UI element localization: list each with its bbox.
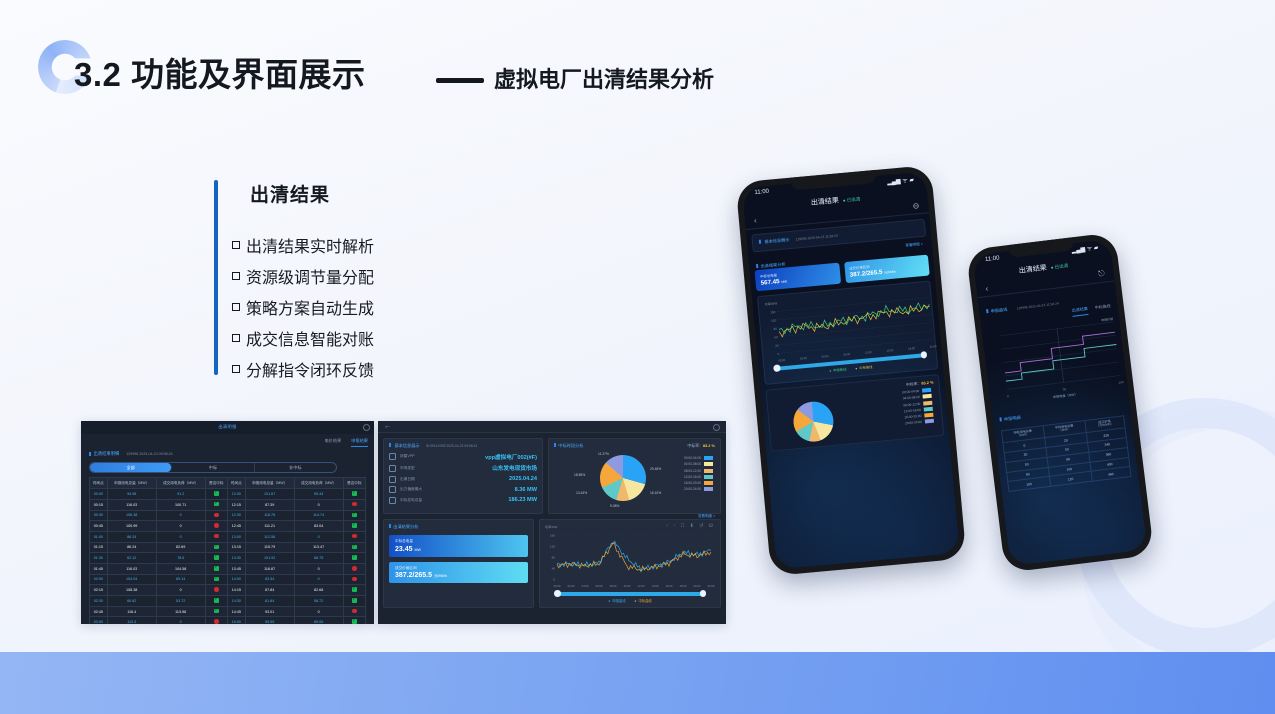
cell-win xyxy=(343,510,365,521)
bullet-square-icon xyxy=(232,272,240,280)
back-arrow-icon[interactable]: ← xyxy=(384,423,391,430)
cell-win xyxy=(205,606,227,617)
legend-label: 00:00-04:00 xyxy=(684,456,701,460)
cell-time: 14:45 xyxy=(227,606,245,617)
status-ok-icon xyxy=(352,619,357,624)
cell-time: 01:00 xyxy=(90,531,108,542)
segment-all[interactable]: 全部 xyxy=(90,463,172,472)
col-time-l: 时间点 xyxy=(90,478,108,489)
window-title: 出清明细 xyxy=(218,424,236,430)
legend-swatch xyxy=(704,475,713,479)
cell-cleared: 58.72 xyxy=(294,596,343,607)
svg-text:08:00: 08:00 xyxy=(610,584,617,588)
cell-cleared: 0 xyxy=(156,521,205,532)
svg-text:21:00: 21:00 xyxy=(930,344,938,349)
legend-swatch xyxy=(925,419,934,424)
kpi-value: 23.45 MW xyxy=(395,546,522,553)
legend-label: 12:00-16:00 xyxy=(684,475,701,479)
table-row[interactable]: 02:00104.0489.1414:0083.540 xyxy=(90,574,366,585)
pie-legend: 00:00-04:0004:00-08:0008:00-12:0012:00-1… xyxy=(902,388,934,428)
status-time: 11:00 xyxy=(985,255,1000,265)
cell-time: 00:30 xyxy=(90,510,108,521)
cell-cleared: 0 xyxy=(294,574,343,585)
win-rate-value: 83.2 % xyxy=(703,443,715,448)
win-rate: 中标率：83.2 % xyxy=(687,443,715,449)
phone-mockup-front: 11:00 ▂▄▆ ᯤ ▰ 出清结果● 已出清 ‹ ⊖ 基本信息展示 12999… xyxy=(736,165,967,576)
cell-cleared: 89.14 xyxy=(156,574,205,585)
svg-text:120: 120 xyxy=(771,318,777,322)
back-chevron-icon[interactable]: ‹ xyxy=(985,283,989,292)
kpi-unit: MW xyxy=(414,548,420,552)
table-row[interactable]: 00:15116.03100.7112:1587.390 xyxy=(90,499,366,510)
svg-text:14:00: 14:00 xyxy=(652,584,659,588)
status-fail-icon xyxy=(214,513,219,518)
svg-text:0: 0 xyxy=(1007,394,1009,398)
cell-time: 02:45 xyxy=(90,606,108,617)
kpi-title: 中标总电量 xyxy=(395,539,522,544)
segment-won[interactable]: 中标 xyxy=(172,463,254,472)
panel-heading: 申报曲线 xyxy=(986,307,1008,315)
table-row[interactable]: 02:45116.4113.9814:4593.010 xyxy=(90,606,366,617)
legend-item[interactable]: 00:00-04:00 xyxy=(684,456,713,460)
tab-bar: 电价结果 申报结果 xyxy=(324,438,368,447)
status-ok-icon xyxy=(214,491,219,496)
col-win-r: 是否中标 xyxy=(343,478,365,489)
cell-declared: 60.62 xyxy=(107,596,156,607)
status-ok-icon xyxy=(214,555,219,560)
legend-item[interactable]: 08:00-12:00 xyxy=(684,469,713,473)
svg-text:80: 80 xyxy=(552,555,556,559)
info-row: 出力偏差最大8.36 MW xyxy=(389,486,537,493)
panel-heading: 基本信息展示 ID:9914:0595 2025-04-23 09:58:24 xyxy=(389,443,537,449)
chart-range-slider[interactable] xyxy=(557,592,703,596)
phone-pie-panel: 中标率：83.2 % 00:00-04:0004:00-08:0008:00-1… xyxy=(765,374,944,452)
cell-cleared: 0 xyxy=(294,606,343,617)
info-label: 所属VPP xyxy=(400,454,448,459)
cell-declared: 94.98 xyxy=(107,489,156,500)
table-header-row: 时间点 申报用电总量（MW） 成交用电负荷（MW） 是否中标 时间点 申报用电总… xyxy=(90,478,366,489)
svg-text:02:00: 02:00 xyxy=(568,584,575,588)
chart-toolbar-icons[interactable]: ▫ ▫ ⎍ ⬇ ↺ ⛁ xyxy=(666,523,715,529)
cell-win xyxy=(205,531,227,542)
cell-cleared: 82.69 xyxy=(156,542,205,553)
status-fail-icon xyxy=(214,619,219,624)
cell-declared: 93.01 xyxy=(245,606,294,617)
col-win-l: 是否中标 xyxy=(205,478,227,489)
panel-heading: 出清结果分析 xyxy=(389,524,528,530)
legend-label: 16:00-20:00 xyxy=(904,414,921,420)
svg-text:06:00: 06:00 xyxy=(596,584,603,588)
svg-text:15:00: 15:00 xyxy=(886,348,894,353)
table-row[interactable]: 00:0094.9891.212:00101.6795.44 xyxy=(90,489,366,500)
cell-cleared: 113.98 xyxy=(156,606,205,617)
svg-text:150: 150 xyxy=(770,310,776,314)
feature-item-label: 成交信息智能对账 xyxy=(246,326,374,350)
cell-declared: 104.04 xyxy=(107,574,156,585)
cell-declared: 113.3 xyxy=(107,617,156,624)
cell-time: 13:45 xyxy=(227,563,245,574)
cell-time: 02:00 xyxy=(90,574,108,585)
cell-cleared: 82.68 xyxy=(294,585,343,596)
legend-item[interactable]: 20:00-24:00 xyxy=(684,487,713,491)
pie-label-4: 18.55% xyxy=(574,473,585,477)
status-fail-icon xyxy=(352,566,357,571)
status-fail-icon xyxy=(352,577,357,582)
status-fail-icon xyxy=(214,587,219,592)
cell-win xyxy=(343,606,365,617)
svg-text:12:00: 12:00 xyxy=(865,350,873,355)
svg-text:100: 100 xyxy=(1118,380,1124,385)
cell-cleared: 0 xyxy=(294,563,343,574)
cell-win xyxy=(205,596,227,607)
pie-label-2: 9.08% xyxy=(610,504,619,508)
tab-declare-result[interactable]: 申报结果 xyxy=(351,438,368,447)
info-row: 中标发电总量186.23 MW xyxy=(389,497,537,504)
legend-item[interactable]: 04:00-08:00 xyxy=(684,462,713,466)
cell-time: 13:15 xyxy=(227,542,245,553)
feature-heading: 出清结果 xyxy=(250,180,374,207)
bottom-gradient-bar xyxy=(0,652,1275,714)
cell-declared: 116.03 xyxy=(107,563,156,574)
cell-win xyxy=(205,542,227,553)
cell-declared: 116.4 xyxy=(107,606,156,617)
legend-item[interactable]: 16:00-20:00 xyxy=(684,481,713,485)
list-item: 出清结果实时解析 xyxy=(232,233,374,257)
cell-cleared: 0 xyxy=(156,510,205,521)
cell-win xyxy=(205,510,227,521)
legend-label: 04:00-08:00 xyxy=(684,462,701,466)
kpi-unit: 元/MWh xyxy=(884,270,896,275)
legend-label: 08:00-12:00 xyxy=(903,401,920,407)
page-subtitle: 虚拟电厂出清结果分析 xyxy=(494,62,714,94)
tab-cleared-curve[interactable]: 中标曲线 xyxy=(1094,303,1111,313)
bullet-square-icon xyxy=(232,334,240,342)
panel-heading: 申报明细 xyxy=(999,414,1021,422)
clearing-result-panel: 出清结果分析 中标总电量 23.45 MW 成交价格区间 387.2/265.5… xyxy=(383,519,534,608)
pie-legend: 00:00-04:0004:00-08:0008:00-12:0012:00-1… xyxy=(684,456,713,494)
cell-win xyxy=(205,553,227,564)
legend-label: 08:00-12:00 xyxy=(684,469,701,473)
cell-cleared: 78.6 xyxy=(156,553,205,564)
table-row[interactable]: 01:1586.2482.6913:15115.79113.47 xyxy=(90,542,366,553)
cell-declared: 86.24 xyxy=(107,531,156,542)
cell-win xyxy=(205,617,227,624)
cell-declared: 116.03 xyxy=(107,499,156,510)
cell-time: 15:00 xyxy=(227,617,245,624)
cell-time: 00:15 xyxy=(90,499,108,510)
cell-win xyxy=(343,553,365,564)
panel-heading: 基本信息展示 129996 2025-04-23 11:58:24 xyxy=(759,225,919,245)
cell-cleared: 113.47 xyxy=(294,542,343,553)
cell-win xyxy=(343,585,365,596)
info-value: 8.36 MW xyxy=(515,487,537,493)
cell-time: 01:45 xyxy=(90,563,108,574)
list-item: 策略方案自动生成 xyxy=(232,295,374,319)
pie-chart: 29.48% 16.10% 9.08% 13.43% 18.55% 11.27%… xyxy=(554,451,715,509)
cell-time: 14:00 xyxy=(227,574,245,585)
legend-swatch xyxy=(923,400,932,405)
close-icon[interactable] xyxy=(363,424,370,431)
svg-text:16:00: 16:00 xyxy=(666,584,673,588)
status-ok-icon xyxy=(352,545,357,550)
cell-cleared: 100.71 xyxy=(156,499,205,510)
cell-cleared: 86.75 xyxy=(294,553,343,564)
cell-time: 00:45 xyxy=(90,521,108,532)
cell-time: 02:30 xyxy=(90,596,108,607)
status-time: 11:00 xyxy=(754,189,769,198)
cell-cleared: 53.72 xyxy=(156,596,205,607)
svg-text:10:00: 10:00 xyxy=(624,584,631,588)
col-declared-l: 申报用电总量（MW） xyxy=(107,478,156,489)
status-fail-icon xyxy=(352,502,357,507)
table-row[interactable]: 01:3062.1278.613:30101.9286.75 xyxy=(90,553,366,564)
cell-cleared: 0 xyxy=(294,531,343,542)
feature-block: 出清结果 出清结果实时解析 资源级调节量分配 策略方案自动生成 成交信息智能对账… xyxy=(214,180,374,388)
phone-mockup-back: 11:00 ▂▄▆ ᯤ ▰ 出清结果● 已出清 ‹ ⎋ 申报曲线 129996 … xyxy=(966,232,1154,573)
svg-text:06:00: 06:00 xyxy=(821,354,829,359)
legend-cleared[interactable]: 中标曲线 xyxy=(635,598,652,603)
status-badge: ● 已出清 xyxy=(843,196,861,203)
tab-price-result[interactable]: 电价结果 xyxy=(324,438,341,447)
screenshot-clearing-detail-table: 出清明细 电价结果 申报结果 出清结果明细 129996 2025-04-23 … xyxy=(81,421,374,624)
list-item: 资源级调节量分配 xyxy=(232,264,374,288)
breadcrumb-title: 出清结果明细 xyxy=(89,451,119,457)
title-divider-dash xyxy=(436,78,484,83)
step-chart-svg: 050100申报电量（MW）申报价格 xyxy=(984,313,1128,407)
legend-label: 04:00-08:00 xyxy=(903,395,920,401)
feature-item-label: 出清结果实时解析 xyxy=(246,233,374,257)
cell-cleared: 0 xyxy=(156,531,205,542)
cell-declared: 100.99 xyxy=(107,521,156,532)
segmented-filter: 全部 中标 非中标 xyxy=(89,462,337,473)
cell-cleared: 95.44 xyxy=(294,489,343,500)
svg-text:0: 0 xyxy=(777,352,779,356)
plant-icon xyxy=(389,453,396,460)
table-row[interactable]: 00:30106.38012:30118.78114.74 xyxy=(90,510,366,521)
table-row[interactable]: 00:45100.99012:45111.2183.04 xyxy=(90,521,366,532)
cell-time: 01:30 xyxy=(90,553,108,564)
cell-win xyxy=(343,521,365,532)
back-chevron-icon[interactable]: ‹ xyxy=(754,216,757,225)
cell-win xyxy=(343,499,365,510)
table-row[interactable]: 02:15108.38014:1587.8482.68 xyxy=(90,585,366,596)
svg-text:120: 120 xyxy=(550,544,555,548)
kpi-value: 387.2/265.5 元/MWh xyxy=(395,572,522,579)
svg-text:申报价格: 申报价格 xyxy=(1101,315,1114,321)
legend-swatch xyxy=(704,456,713,460)
cell-win xyxy=(343,574,365,585)
status-fail-icon xyxy=(352,609,357,614)
legend-declared[interactable]: 申报曲线 xyxy=(608,598,625,603)
info-label: 出清日期 xyxy=(400,477,448,482)
kpi-total-energy: 中标总电量 23.45 MW xyxy=(389,535,528,557)
feature-accent-rule xyxy=(214,180,218,375)
cell-declared: 83.54 xyxy=(245,574,294,585)
feature-item-label: 策略方案自动生成 xyxy=(246,295,374,319)
legend-label: 20:00-24:00 xyxy=(684,487,701,491)
breadcrumb: 出清结果明细 129996 2025-04-23 09:58:24 xyxy=(89,451,366,457)
legend-declared[interactable]: 申报曲线 xyxy=(829,366,847,373)
legend-cleared[interactable]: 中标曲线 xyxy=(855,364,873,371)
cell-declared: 112.58 xyxy=(245,531,294,542)
col-cleared-r: 成交用电负荷（MW） xyxy=(294,478,343,489)
cell-declared: 87.39 xyxy=(245,499,294,510)
table-body: 00:0094.9891.212:00101.6795.4400:15116.0… xyxy=(90,489,366,624)
panel-subtitle: ID:9914:0595 2025-04-23 09:58:24 xyxy=(426,444,477,448)
status-ok-icon xyxy=(352,555,357,560)
cell-win xyxy=(205,521,227,532)
feature-item-label: 资源级调节量分配 xyxy=(246,264,374,288)
svg-text:04:00: 04:00 xyxy=(582,584,589,588)
table-row[interactable]: 01:45116.03104.5813:45116.870 xyxy=(90,563,366,574)
cell-time: 13:00 xyxy=(227,531,245,542)
legend-swatch xyxy=(924,413,933,418)
list-item: 分解指令闭环反馈 xyxy=(232,357,374,381)
phone-screen: 11:00 ▂▄▆ ᯤ ▰ 出清结果● 已出清 ‹ ⊖ 基本信息展示 12999… xyxy=(742,171,960,569)
line-chart-svg: 0408012016000:0002:0004:0006:0008:0010:0… xyxy=(545,529,715,589)
cell-time: 12:15 xyxy=(227,499,245,510)
cell-declared: 86.24 xyxy=(107,542,156,553)
cell-cleared: 0 xyxy=(156,585,205,596)
kpi-unit: 元/MWh xyxy=(434,574,447,578)
legend-item[interactable]: 12:00-16:00 xyxy=(684,475,713,479)
cell-cleared: 89.06 xyxy=(294,617,343,624)
window-titlebar: 出清明细 xyxy=(81,421,374,434)
svg-text:00:00: 00:00 xyxy=(554,584,561,588)
cell-time: 00:00 xyxy=(90,489,108,500)
info-row: 所属VPPvpp虚拟电厂002(#F) xyxy=(389,453,537,461)
info-value: 2025.04.24 xyxy=(509,476,537,482)
clearing-detail-table: 时间点 申报用电总量（MW） 成交用电负荷（MW） 是否中标 时间点 申报用电总… xyxy=(89,477,366,624)
cell-declared: 95.55 xyxy=(245,617,294,624)
status-ok-icon xyxy=(352,491,357,496)
status-ok-icon xyxy=(352,587,357,592)
cell-win xyxy=(205,574,227,585)
view-detail-link[interactable]: 查看明细 > xyxy=(698,514,715,519)
legend-item[interactable]: 20:00-24:00 xyxy=(905,419,934,426)
table-row[interactable]: 03:00113.3015:0095.5589.06 xyxy=(90,617,366,624)
feature-list: 出清结果实时解析 资源级调节量分配 策略方案自动生成 成交信息智能对账 分解指令… xyxy=(232,233,374,381)
cell-declared: 101.92 xyxy=(245,553,294,564)
panel-subtitle: 129996 2025-04-23 11:58:24 xyxy=(795,234,837,242)
cell-cleared: 0 xyxy=(294,499,343,510)
legend-label: 12:00-16:00 xyxy=(904,408,921,414)
tab-clearing-result[interactable]: 出清结果 xyxy=(1072,306,1089,316)
legend-swatch xyxy=(704,462,713,466)
minimize-icon[interactable] xyxy=(713,424,720,431)
cell-cleared: 114.74 xyxy=(294,510,343,521)
cell-declared: 87.84 xyxy=(245,585,294,596)
legend-swatch xyxy=(704,487,713,491)
cell-declared: 62.12 xyxy=(107,553,156,564)
cell-declared: 108.38 xyxy=(107,585,156,596)
svg-text:60: 60 xyxy=(774,335,778,339)
col-declared-r: 申报用电总量（MW） xyxy=(245,478,294,489)
screenshot-clearing-overview: ← 基本信息展示 ID:9914:0595 2025-04-23 09:58:2… xyxy=(378,421,726,624)
cell-declared: 81.84 xyxy=(245,596,294,607)
cell-time: 12:00 xyxy=(227,489,245,500)
cell-declared: 111.21 xyxy=(245,521,294,532)
info-value: 186.23 MW xyxy=(508,497,537,503)
svg-text:18:00: 18:00 xyxy=(680,584,687,588)
cell-cleared: 91.2 xyxy=(156,489,205,500)
legend-label: 20:00-24:00 xyxy=(905,420,922,426)
signal-wifi-battery-icons: ▂▄▆ ᯤ ▰ xyxy=(887,176,915,186)
svg-text:50: 50 xyxy=(1062,387,1066,391)
legend-swatch xyxy=(923,394,932,399)
pie-label-0: 29.48% xyxy=(650,467,661,471)
cell-cleared: 0 xyxy=(156,617,205,624)
status-ok-icon xyxy=(214,609,219,614)
table-row[interactable]: 02:3060.6253.7214:3081.8458.72 xyxy=(90,596,366,607)
info-row: 市场类型山东发电现货市场 xyxy=(389,464,537,472)
date-icon xyxy=(389,476,396,483)
cell-win xyxy=(343,617,365,624)
cell-declared: 116.87 xyxy=(245,563,294,574)
signal-wifi-battery-icons: ▂▄▆ ᯤ ▰ xyxy=(1071,243,1099,254)
panel-subtitle: 129996 2025-04-23 11:58:24 xyxy=(1017,301,1059,310)
svg-text:160: 160 xyxy=(550,533,555,537)
close-circle-icon[interactable]: ⊖ xyxy=(912,201,919,211)
kpi-price-range: 成交价格区间 387.2/265.5 元/MWh xyxy=(389,562,528,584)
status-fail-icon xyxy=(352,534,357,539)
cell-win xyxy=(343,563,365,574)
svg-text:12:00: 12:00 xyxy=(638,584,645,588)
export-icon[interactable]: ⎋ xyxy=(1098,269,1105,280)
pie-slices xyxy=(792,400,835,443)
page-title: 3.2 功能及界面展示 xyxy=(74,48,366,96)
legend-label: 00:00-04:00 xyxy=(902,389,919,395)
status-ok-icon xyxy=(352,513,357,518)
legend-swatch xyxy=(924,407,933,412)
pie-label-5: 11.27% xyxy=(598,452,609,456)
pie-label-1: 16.10% xyxy=(650,491,661,495)
cell-time: 01:15 xyxy=(90,542,108,553)
cell-win xyxy=(343,489,365,500)
cell-time: 03:00 xyxy=(90,617,108,624)
cell-win xyxy=(205,563,227,574)
phone-line-chart-panel: 功率/MW 030609012015000:0003:0006:0009:001… xyxy=(757,280,938,384)
bullet-square-icon xyxy=(232,365,240,373)
info-field-list: 所属VPPvpp虚拟电厂002(#F)市场类型山东发电现货市场出清日期2025.… xyxy=(389,453,537,504)
status-ok-icon xyxy=(352,598,357,603)
cell-time: 14:30 xyxy=(227,596,245,607)
segment-not-won[interactable]: 非中标 xyxy=(255,463,336,472)
cell-time: 02:15 xyxy=(90,585,108,596)
list-item: 成交信息智能对账 xyxy=(232,326,374,350)
cell-win xyxy=(205,489,227,500)
basic-info-panel: 基本信息展示 ID:9914:0595 2025-04-23 09:58:24 … xyxy=(383,438,543,514)
pie-chart: 00:00-04:0004:00-08:0008:00-12:0012:00-1… xyxy=(773,383,937,445)
window-titlebar: ← xyxy=(378,421,726,433)
market-icon xyxy=(389,465,396,472)
status-ok-icon xyxy=(214,566,219,571)
bid-window-pie-panel: 中标时段分析 中标率：83.2 % 29.48% 16.10% 9.08% 13… xyxy=(548,438,721,514)
chart-icon xyxy=(389,486,396,493)
status-fail-icon xyxy=(214,534,219,539)
info-label: 市场类型 xyxy=(400,466,448,471)
status-ok-icon xyxy=(214,598,219,603)
bullet-square-icon xyxy=(232,241,240,249)
cell-win xyxy=(343,531,365,542)
svg-text:09:00: 09:00 xyxy=(843,352,851,357)
table-row[interactable]: 01:0086.24013:00112.580 xyxy=(90,531,366,542)
cell-declared: 106.38 xyxy=(107,510,156,521)
cell-win xyxy=(205,499,227,510)
cell-time: 13:30 xyxy=(227,553,245,564)
breadcrumb-timestamp: 129996 2025-04-23 09:58:24 xyxy=(126,452,172,456)
bullet-square-icon xyxy=(232,303,240,311)
